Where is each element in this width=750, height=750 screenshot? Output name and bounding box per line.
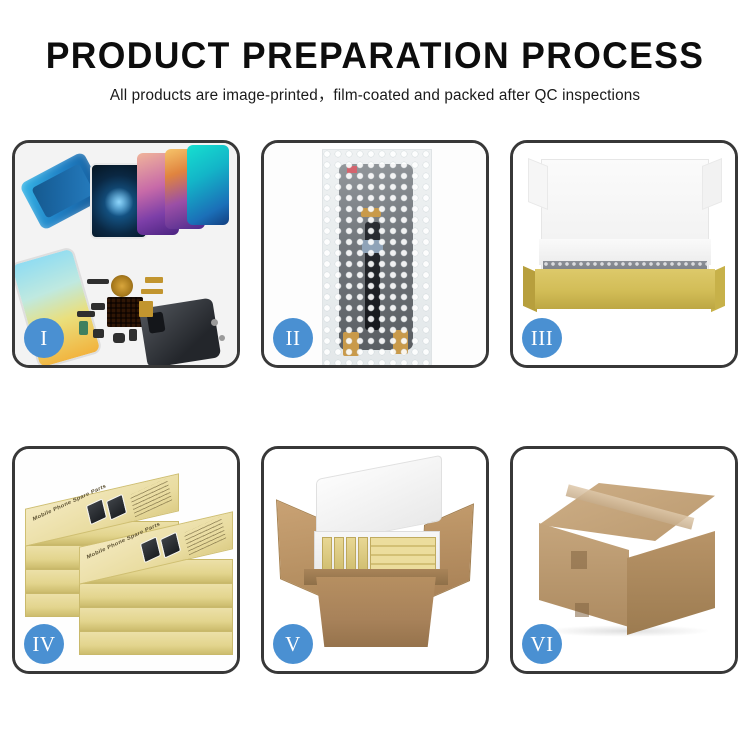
stacked-box — [79, 583, 233, 607]
process-step-1: I — [12, 140, 240, 368]
teal-phone-icon — [187, 145, 229, 225]
box-art-screen-icon — [160, 532, 181, 559]
page-subtitle: All products are image-printed，film-coat… — [6, 76, 745, 105]
step-badge-4: IV — [24, 624, 64, 664]
carton-tab-icon — [575, 603, 589, 617]
step-5-image: V — [264, 449, 486, 671]
page-header: PRODUCT PREPARATION PROCESS All products… — [0, 0, 750, 105]
small-part-icon — [91, 303, 105, 310]
box-art-screen-icon — [140, 536, 161, 563]
carton-front-face — [308, 577, 444, 647]
stacked-box — [79, 631, 233, 655]
process-step-6: VI — [510, 446, 738, 674]
screw-icon — [211, 319, 218, 326]
carton-tab-icon — [571, 551, 587, 569]
stacked-box — [79, 607, 233, 631]
chip-array-icon — [107, 297, 143, 327]
flex-cable-icon — [139, 301, 153, 317]
step-3-image: III — [513, 143, 735, 365]
bubble-wrap-bag — [322, 149, 432, 365]
step-badge-6: VI — [522, 624, 562, 664]
step-2-image: II — [264, 143, 486, 365]
small-part-icon — [113, 333, 125, 343]
process-step-2: II — [261, 140, 489, 368]
step-badge-2: II — [273, 318, 313, 358]
box-spec-text-block — [130, 478, 172, 517]
step-4-image: Mobile Phone Spare Parts Mobile Phone Sp… — [15, 449, 237, 671]
box-art-screen-icon — [86, 498, 107, 525]
bubble-texture — [323, 150, 431, 365]
box-spec-text-block — [184, 516, 226, 555]
process-step-4: Mobile Phone Spare Parts Mobile Phone Sp… — [12, 446, 240, 674]
step-badge-3: III — [522, 318, 562, 358]
small-part-icon — [129, 329, 137, 341]
step-6-image: VI — [513, 449, 735, 671]
carton-right-face — [627, 531, 715, 635]
flex-cable-icon — [141, 289, 163, 294]
battery-part-icon — [79, 321, 88, 335]
process-step-5: V — [261, 446, 489, 674]
small-part-icon — [77, 311, 95, 317]
step-badge-1: I — [24, 318, 64, 358]
small-part-icon — [93, 329, 104, 338]
step-1-image: I — [15, 143, 237, 365]
box-art-screen-icon — [106, 494, 127, 521]
small-part-icon — [87, 279, 109, 284]
gold-tray-body — [535, 269, 715, 309]
infographic-page: PRODUCT PREPARATION PROCESS All products… — [0, 0, 750, 750]
speaker-coil-icon — [111, 275, 133, 297]
page-title: PRODUCT PREPARATION PROCESS — [15, 0, 735, 76]
flex-cable-icon — [145, 277, 163, 283]
step-badge-5: V — [273, 624, 313, 664]
process-step-3: III — [510, 140, 738, 368]
process-grid: I II — [12, 140, 738, 674]
screw-icon — [219, 335, 225, 341]
